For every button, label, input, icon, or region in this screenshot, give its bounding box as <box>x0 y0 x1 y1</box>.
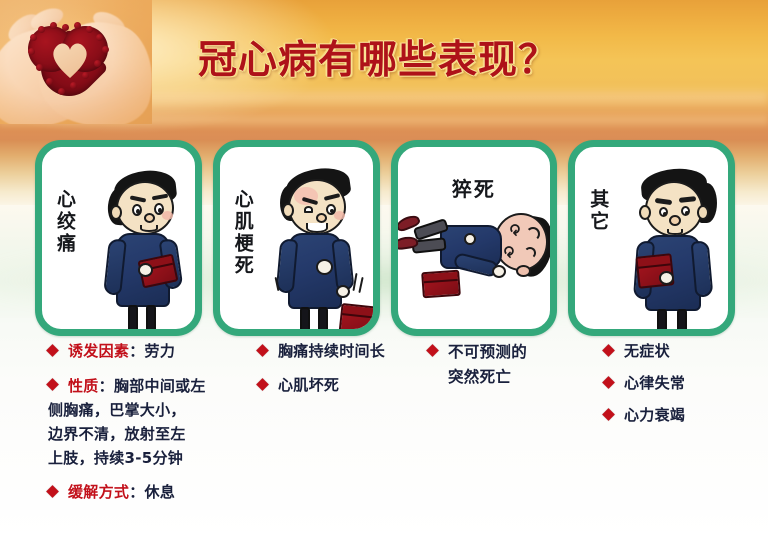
item-separator: ： <box>129 483 144 501</box>
detail-column-sudden-death: 不可预测的 突然死亡 <box>428 340 593 401</box>
page-title: 冠心病有哪些表现？ <box>198 33 578 89</box>
hands-holding-heart-photo <box>0 0 152 124</box>
symptom-card-other[interactable]: 其它 <box>568 140 735 336</box>
hand-on-chest <box>138 263 153 277</box>
hand <box>492 265 506 278</box>
list-item: 性质：胸部中间或左 侧胸痛，巴掌大小， 边界不清，放射至左 上肢，持续3-5分钟 <box>48 374 253 470</box>
dizzy-spiral: ⟳ <box>505 224 523 237</box>
item-continuation-line: 上肢，持续3-5分钟 <box>48 446 253 470</box>
item-value: 休息 <box>145 483 176 501</box>
symptom-card-sudden-death[interactable]: 猝死 ⟳ ⟳ <box>391 140 558 336</box>
diamond-bullet-icon <box>602 376 615 389</box>
swirl-eye <box>526 227 540 241</box>
item-label: 诱发因素 <box>68 342 129 360</box>
list-item-text: 心力衰竭 <box>624 404 754 427</box>
list-item: 心律失常 <box>604 372 754 395</box>
nose <box>316 213 327 223</box>
list-item: 心力衰竭 <box>604 404 754 427</box>
eye-left-squint <box>304 206 313 213</box>
hand-clutching-chest <box>316 259 333 275</box>
diamond-bullet-icon <box>46 344 59 357</box>
dropped-briefcase <box>421 270 461 299</box>
item-separator: ： <box>99 377 114 395</box>
list-item: 无症状 <box>604 340 754 363</box>
detail-column-myocardial-infarction: 胸痛持续时间长 心肌坏死 <box>258 340 428 408</box>
hand-right <box>336 285 350 298</box>
motion-streak <box>358 277 363 293</box>
diamond-bullet-icon <box>426 344 439 357</box>
pupil <box>663 212 667 216</box>
cheek-flush <box>162 211 173 220</box>
symptom-card-myocardial-infarction[interactable]: 心肌梗死 <box>213 140 380 336</box>
coat-button <box>464 233 476 245</box>
item-label: 缓解方式 <box>68 483 129 501</box>
detail-column-angina: 诱发因素：劳力 性质：胸部中间或左 侧胸痛，巴掌大小， 边界不清，放射至左 上肢… <box>48 340 253 515</box>
pupil <box>158 208 162 213</box>
diamond-bullet-icon <box>46 378 59 391</box>
leg-left <box>128 305 138 336</box>
diamond-bullet-icon <box>256 344 269 357</box>
symptom-details: 诱发因素：劳力 性质：胸部中间或左 侧胸痛，巴掌大小， 边界不清，放射至左 上肢… <box>0 340 768 530</box>
leg-left <box>300 307 310 336</box>
list-item: 诱发因素：劳力 <box>48 340 253 363</box>
dropped-briefcase <box>338 303 379 336</box>
item-value: 劳力 <box>145 342 176 360</box>
list-item-text: 心律失常 <box>624 372 754 395</box>
list-item-text: 性质：胸部中间或左 <box>68 374 253 398</box>
symptom-cards-row: 心绞痛 心肌梗死 <box>35 140 735 336</box>
list-item-text: 无症状 <box>624 340 754 363</box>
leg-right <box>677 309 687 336</box>
ear <box>516 265 531 277</box>
item-continuation-line: 边界不清，放射至左 <box>48 422 253 446</box>
detail-column-other: 无症状 心律失常 心力衰竭 <box>604 340 754 436</box>
list-item: 胸痛持续时间长 <box>258 340 428 363</box>
diamond-bullet-icon <box>46 485 59 498</box>
symptom-card-angina[interactable]: 心绞痛 <box>35 140 202 336</box>
head <box>494 213 548 271</box>
list-item: 不可预测的 突然死亡 <box>428 340 593 390</box>
diamond-bullet-icon <box>256 378 269 391</box>
list-item-text: 胸痛持续时间长 <box>278 340 428 363</box>
card-label: 其它 <box>584 189 610 233</box>
briefcase-flap <box>423 272 458 283</box>
arm-right <box>691 240 714 297</box>
list-item-text: 不可预测的 <box>448 340 593 365</box>
cheek-flush <box>334 211 345 220</box>
card-label: 心绞痛 <box>51 189 77 255</box>
nose <box>144 213 155 223</box>
list-item: 缓解方式：休息 <box>48 481 253 504</box>
pupil <box>136 209 140 214</box>
eye-left <box>132 204 142 216</box>
item-value: 胸部中间或左 <box>114 377 206 395</box>
pupil <box>685 211 689 215</box>
ear <box>110 205 122 220</box>
leg-right <box>318 307 328 336</box>
photo-vignette <box>0 0 152 124</box>
mouth <box>140 225 158 232</box>
diamond-bullet-icon <box>602 408 615 421</box>
list-item: 心肌坏死 <box>258 374 428 397</box>
mouth-open <box>306 223 328 233</box>
pupil <box>330 209 334 213</box>
item-label: 性质 <box>68 377 99 395</box>
card-label: 心肌梗死 <box>229 189 255 277</box>
list-item-text: 诱发因素：劳力 <box>68 340 253 363</box>
item-continuation-line: 突然死亡 <box>448 365 593 390</box>
ear <box>282 203 294 218</box>
leg-left <box>657 309 667 336</box>
item-separator: ： <box>129 342 144 360</box>
list-item-text: 缓解方式：休息 <box>68 481 253 504</box>
diamond-bullet-icon <box>602 344 615 357</box>
briefcase-flap <box>638 255 671 268</box>
briefcase-flap <box>342 305 379 319</box>
list-item-text: 心肌坏死 <box>278 374 428 397</box>
leg-right <box>146 305 156 336</box>
item-continuation-line: 侧胸痛，巴掌大小， <box>48 398 253 422</box>
card-label: 猝死 <box>398 173 551 202</box>
swirl-eye <box>524 247 536 259</box>
